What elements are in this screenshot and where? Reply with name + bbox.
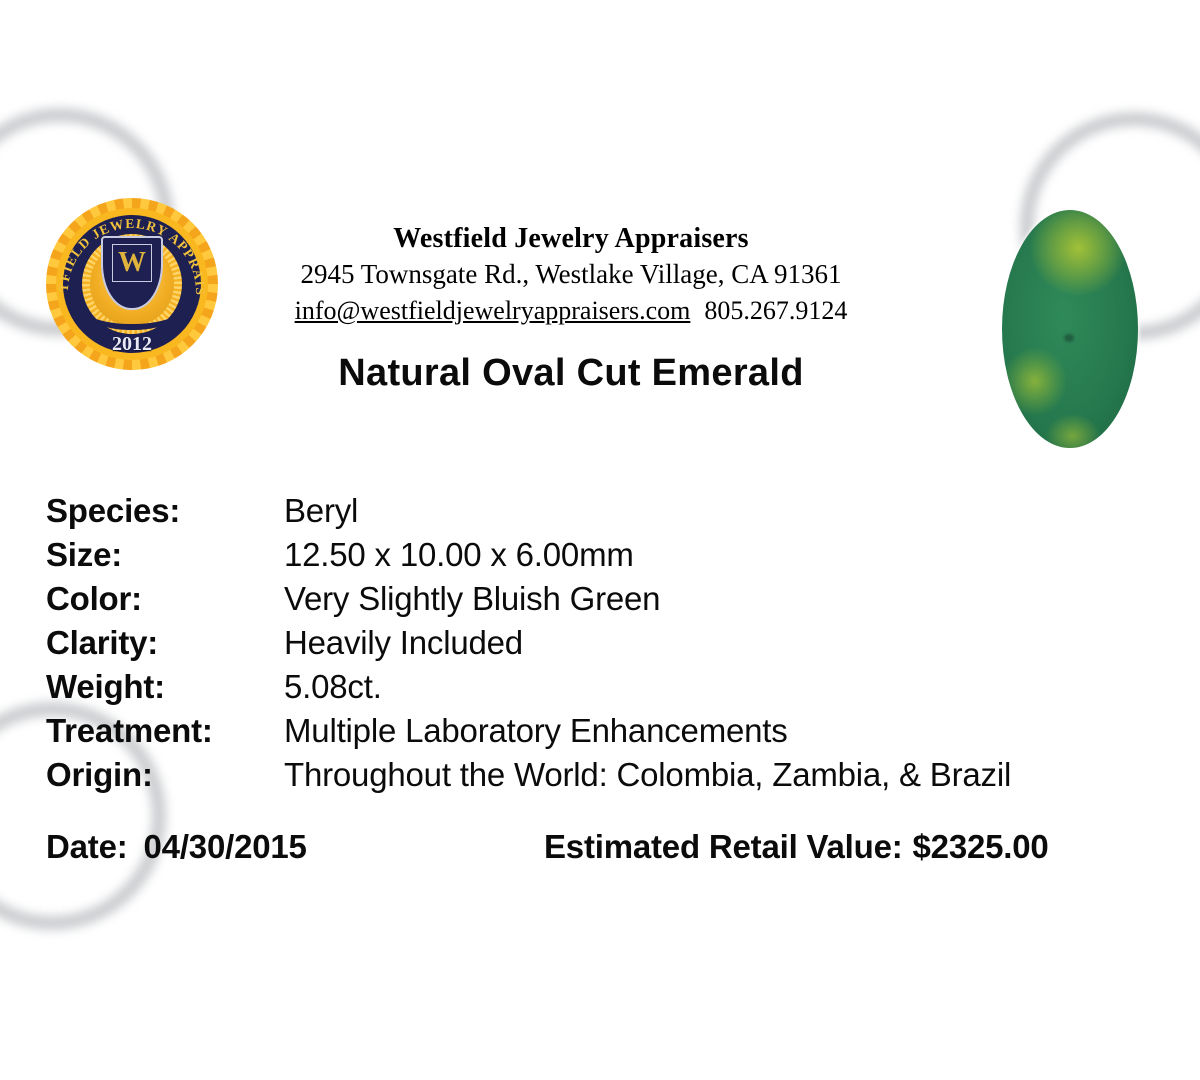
- spec-value-clarity: Heavily Included: [284, 624, 523, 662]
- spec-label-clarity: Clarity:: [46, 624, 284, 662]
- company-contact-line: info@westfieldjewelryappraisers.com805.2…: [236, 294, 906, 328]
- oval-emerald-photo: [1002, 210, 1138, 448]
- date-value: 04/30/2015: [144, 828, 307, 865]
- spec-label-treatment: Treatment:: [46, 712, 284, 750]
- spec-row-size: Size: 12.50 x 10.00 x 6.00mm: [46, 536, 1126, 580]
- letterhead: Westfield Jewelry Appraisers 2945 Townsg…: [236, 222, 906, 328]
- spec-row-species: Species: Beryl: [46, 492, 1126, 536]
- spec-row-origin: Origin: Throughout the World: Colombia, …: [46, 756, 1126, 800]
- company-seal-logo: WESTFIELD JEWELRY APPRAISERS W 2012: [46, 198, 218, 370]
- page-title: Natural Oval Cut Emerald: [236, 352, 906, 395]
- spec-value-origin: Throughout the World: Colombia, Zambia, …: [284, 756, 1011, 794]
- spec-label-size: Size:: [46, 536, 284, 574]
- spec-label-species: Species:: [46, 492, 284, 530]
- gem-inclusion-mark: [1064, 334, 1074, 342]
- seal-year: 2012: [46, 333, 218, 356]
- gemstone-specification-list: Species: Beryl Size: 12.50 x 10.00 x 6.0…: [46, 492, 1126, 800]
- date-label: Date:: [46, 828, 128, 865]
- spec-value-species: Beryl: [284, 492, 358, 530]
- spec-value-size: 12.50 x 10.00 x 6.00mm: [284, 536, 634, 574]
- spec-value-treatment: Multiple Laboratory Enhancements: [284, 712, 788, 750]
- seal-shield-inner-border: W: [112, 244, 152, 282]
- spec-label-color: Color:: [46, 580, 284, 618]
- spec-value-color: Very Slightly Bluish Green: [284, 580, 660, 618]
- company-name: Westfield Jewelry Appraisers: [236, 222, 906, 255]
- company-phone: 805.267.9124: [704, 296, 847, 325]
- retail-value-label: Estimated Retail Value:: [544, 828, 903, 865]
- spec-row-clarity: Clarity: Heavily Included: [46, 624, 1126, 668]
- retail-value-group: Estimated Retail Value:$2325.00: [544, 828, 1049, 866]
- seal-monogram-w: W: [118, 249, 146, 277]
- date-group: Date:04/30/2015: [46, 828, 544, 866]
- spec-row-treatment: Treatment: Multiple Laboratory Enhanceme…: [46, 712, 1126, 756]
- company-address: 2945 Townsgate Rd., Westlake Village, CA…: [236, 257, 906, 292]
- spec-label-weight: Weight:: [46, 668, 284, 706]
- spec-value-weight: 5.08ct.: [284, 668, 382, 706]
- company-email-link[interactable]: info@westfieldjewelryappraisers.com: [295, 296, 691, 325]
- spec-row-weight: Weight: 5.08ct.: [46, 668, 1126, 712]
- appraisal-certificate-card: WESTFIELD JEWELRY APPRAISERS W 2012 West…: [0, 0, 1200, 1080]
- card-corner-top-right: [1128, 112, 1200, 232]
- spec-row-color: Color: Very Slightly Bluish Green: [46, 580, 1126, 624]
- certificate-footer: Date:04/30/2015 Estimated Retail Value:$…: [46, 828, 1126, 866]
- retail-value-amount: $2325.00: [913, 828, 1049, 865]
- spec-label-origin: Origin:: [46, 756, 284, 794]
